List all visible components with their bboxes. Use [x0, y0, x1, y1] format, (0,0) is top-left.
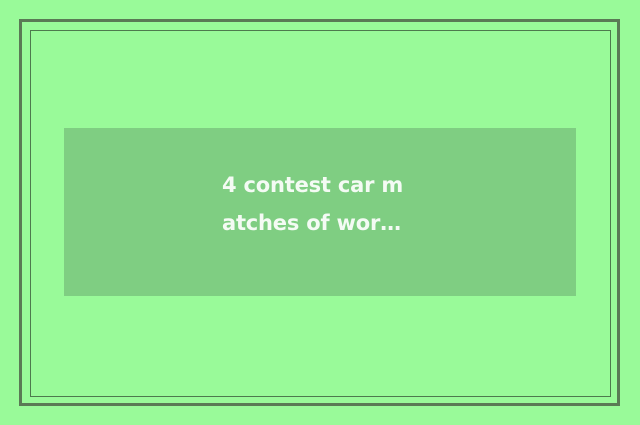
content-panel: 4 contest car m atches of wor…	[64, 128, 576, 296]
panel-text-label: 4 contest car m atches of wor…	[222, 166, 432, 242]
screenshot-canvas: 4 contest car m atches of wor…	[0, 0, 640, 425]
